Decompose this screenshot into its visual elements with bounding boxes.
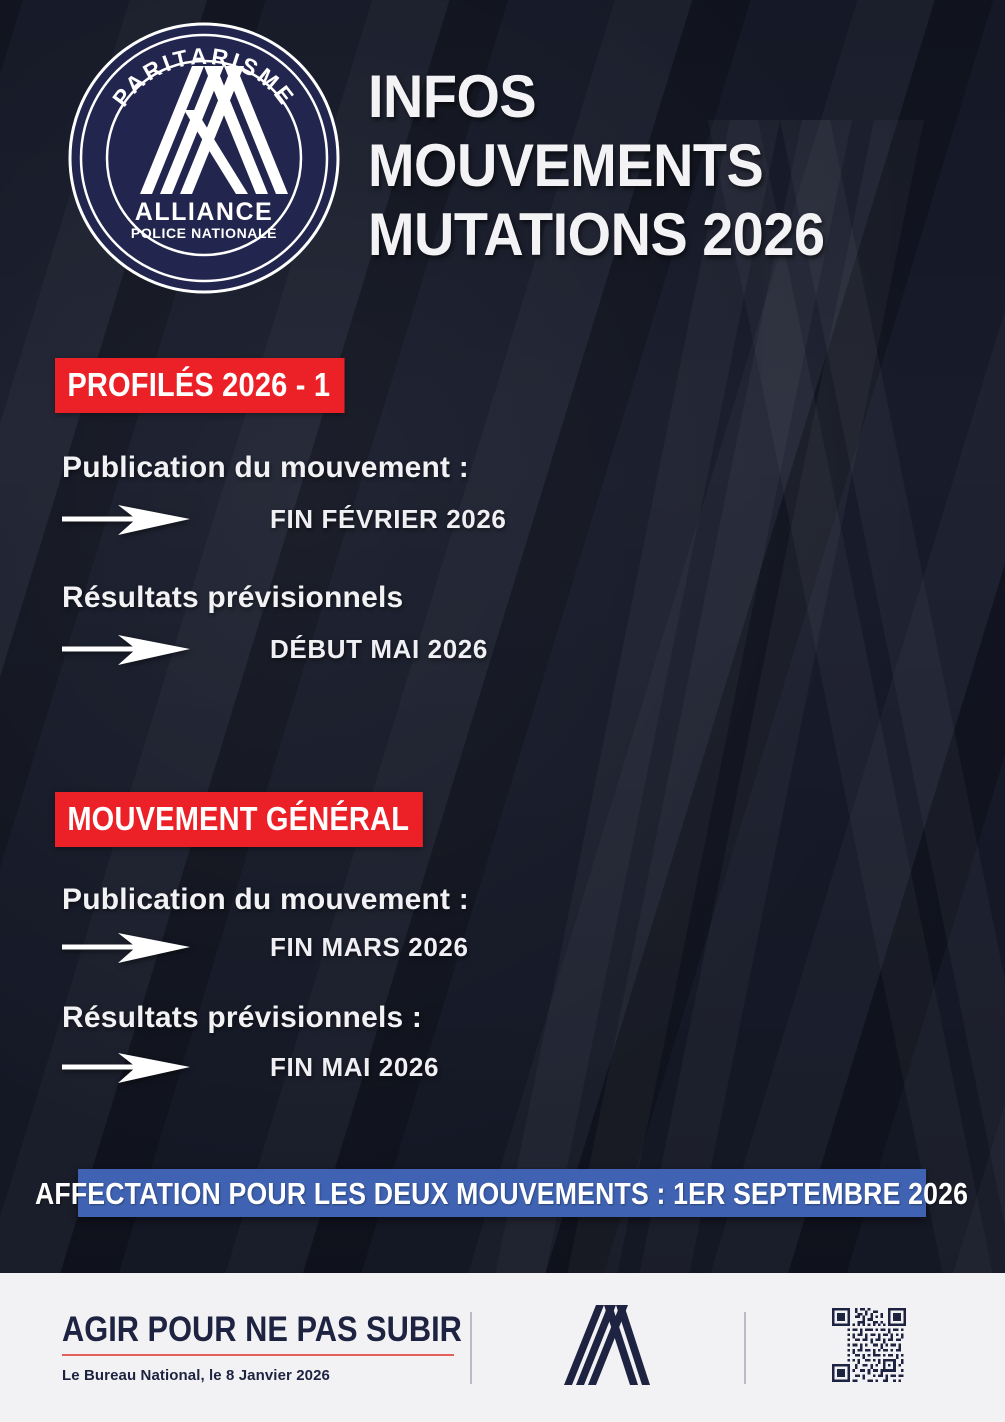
arrow-right-icon (62, 497, 190, 541)
section-badge-profiles: PROFILÉS 2026 - 1 (55, 358, 344, 413)
poster-root: PARITARISME ALLIANCE POLICE NATIONALE (0, 0, 1005, 1422)
footer-slogan-underline (62, 1354, 454, 1356)
poster-header: PARITARISME ALLIANCE POLICE NATIONALE (0, 0, 1005, 310)
section-profiles: PROFILÉS 2026 - 1 Publication du mouveme… (0, 358, 1005, 671)
footer-slogan-block: AGIR POUR NE PAS SUBIR Le Bureau Nationa… (0, 1312, 470, 1384)
item-label-publication-general: Publication du mouvement : (62, 883, 1005, 917)
item-value-resultats-general: FIN MAI 2026 (270, 1052, 439, 1083)
item-value-publication-general: FIN MARS 2026 (270, 932, 469, 963)
qr-code-icon[interactable] (832, 1308, 906, 1382)
footer-qr-code[interactable] (832, 1308, 906, 1387)
footer-alliance-mark (556, 1303, 652, 1392)
arrow-right-icon (62, 627, 190, 671)
poster-title: INFOS MOUVEMENTS MUTATIONS 2026 (368, 62, 859, 269)
svg-text:ALLIANCE: ALLIANCE (135, 198, 273, 226)
item-label-resultats-general: Résultats prévisionnels : (62, 1001, 1005, 1035)
section-mouvement-general: MOUVEMENT GÉNÉRAL Publication du mouveme… (0, 792, 1005, 1089)
arrow-right-icon (62, 925, 190, 969)
arrow-right-icon (62, 1045, 190, 1089)
svg-text:POLICE NATIONALE: POLICE NATIONALE (131, 225, 277, 241)
footer-divider-1 (470, 1312, 472, 1384)
alliance-logo-icon: PARITARISME ALLIANCE POLICE NATIONALE (64, 18, 344, 298)
title-line-2: MOUVEMENTS (368, 131, 825, 200)
alliance-a-mark-icon (556, 1303, 652, 1387)
item-row-publication-general: FIN MARS 2026 (62, 925, 1005, 969)
affectation-banner: AFFECTATION POUR LES DEUX MOUVEMENTS : 1… (78, 1169, 926, 1217)
item-label-publication-profiles: Publication du mouvement : (62, 451, 1005, 485)
footer-date: Le Bureau National, le 8 Janvier 2026 (62, 1367, 470, 1384)
item-row-publication-profiles: FIN FÉVRIER 2026 (62, 497, 1005, 541)
item-value-resultats-profiles: DÉBUT MAI 2026 (270, 634, 488, 665)
title-line-1: INFOS (368, 62, 825, 131)
item-value-publication-profiles: FIN FÉVRIER 2026 (270, 504, 506, 535)
item-row-resultats-profiles: DÉBUT MAI 2026 (62, 627, 1005, 671)
alliance-logo: PARITARISME ALLIANCE POLICE NATIONALE (64, 18, 344, 298)
poster-footer: AGIR POUR NE PAS SUBIR Le Bureau Nationa… (0, 1273, 1005, 1422)
item-label-resultats-profiles: Résultats prévisionnels (62, 581, 1005, 615)
footer-slogan: AGIR POUR NE PAS SUBIR (62, 1312, 421, 1347)
footer-divider-2 (744, 1312, 746, 1384)
section-badge-mouvement-general: MOUVEMENT GÉNÉRAL (55, 792, 423, 847)
affectation-banner-text: AFFECTATION POUR LES DEUX MOUVEMENTS : 1… (35, 1178, 968, 1209)
title-line-3: MUTATIONS 2026 (368, 200, 825, 269)
item-row-resultats-general: FIN MAI 2026 (62, 1045, 1005, 1089)
